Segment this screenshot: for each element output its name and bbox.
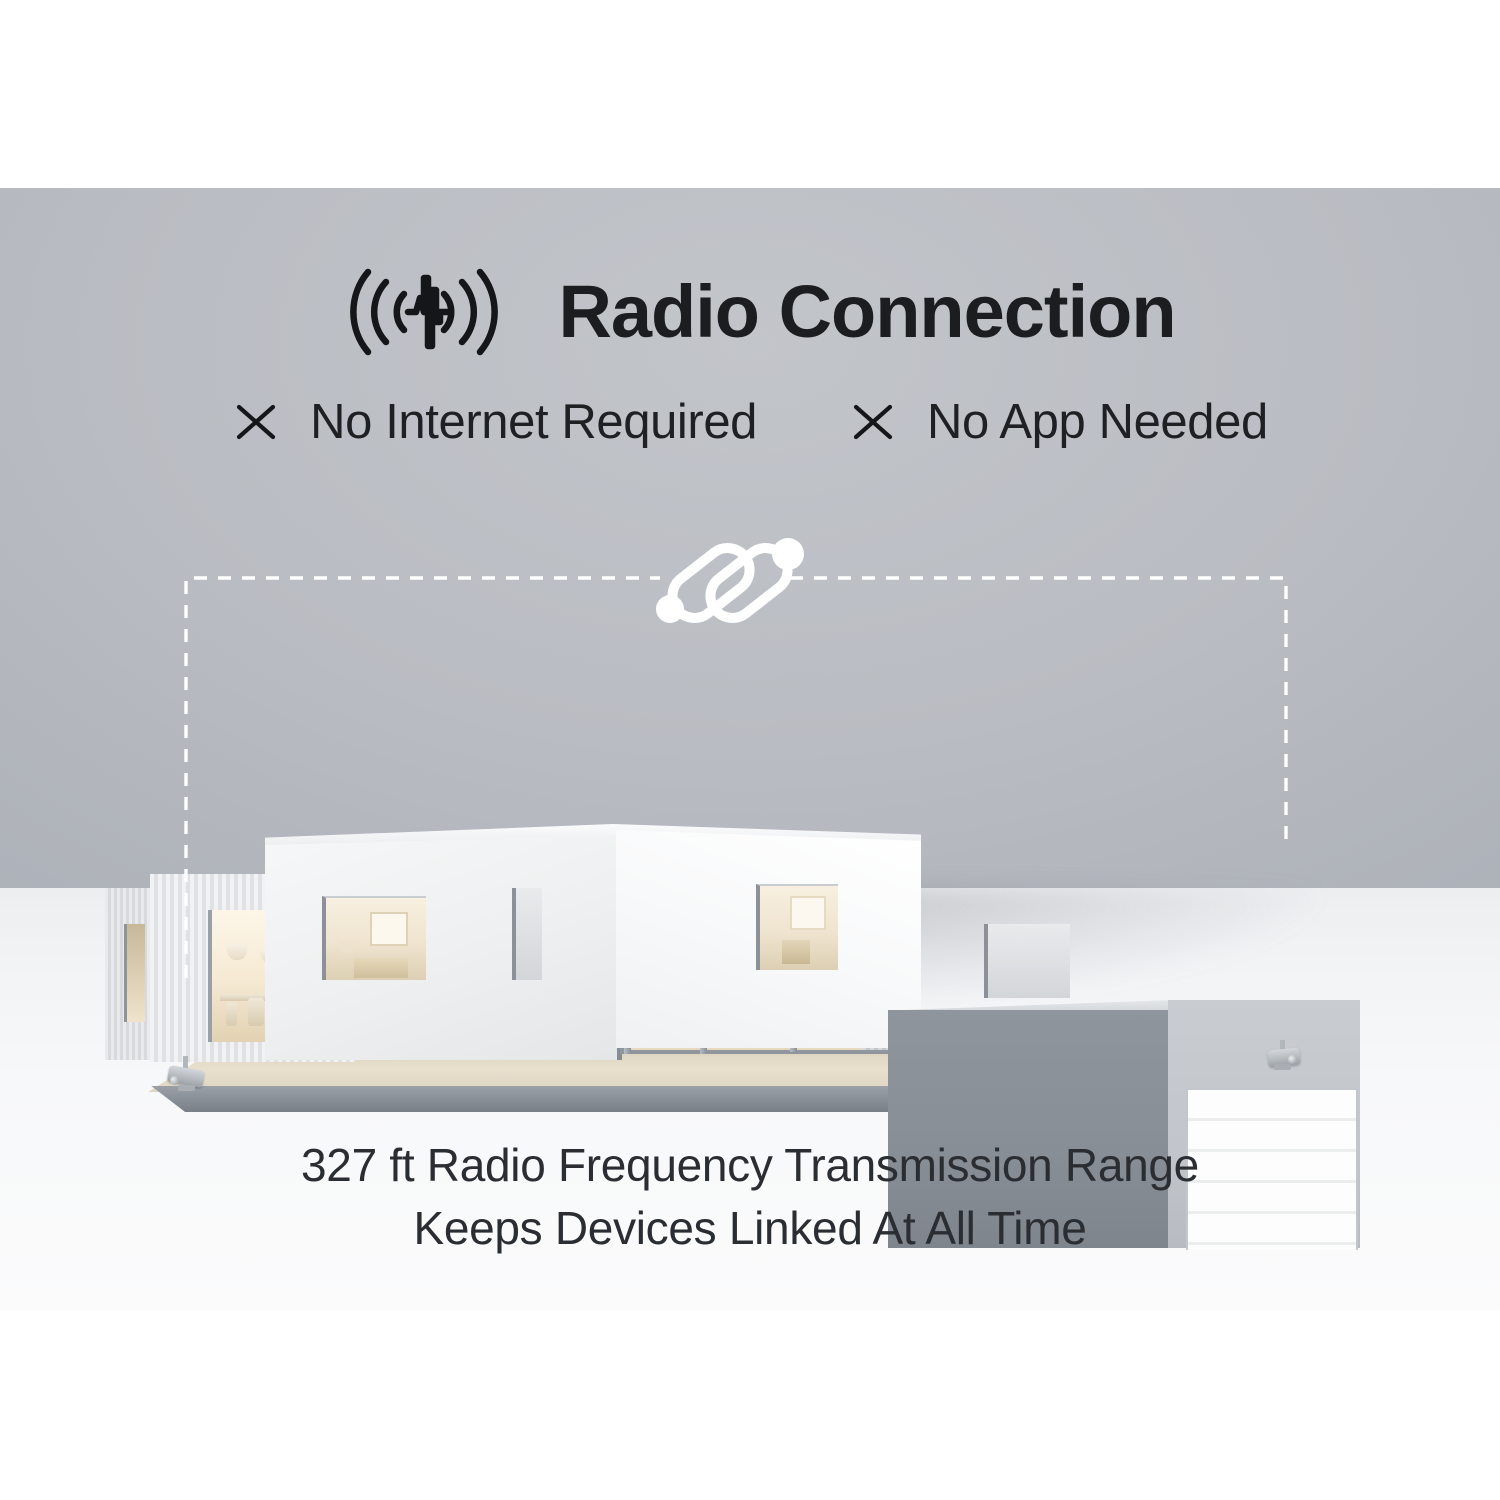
dining-chair (248, 998, 264, 1026)
upper-window-slot (512, 888, 542, 980)
wall-art (790, 896, 826, 930)
wall-art (370, 912, 408, 946)
desk-chair (782, 940, 810, 964)
marketing-image: Radio Connection No Internet Required (0, 0, 1500, 1500)
upper-wall-left (265, 836, 617, 1060)
image-canvas: Radio Connection No Internet Required (0, 188, 1500, 1310)
caption-block: 327 ft Radio Frequency Transmission Rang… (0, 1134, 1500, 1261)
pendant-lamp (226, 944, 248, 960)
upper-window-bedroom (322, 896, 426, 980)
upper-window-study (756, 884, 838, 970)
caption-line-1: 327 ft Radio Frequency Transmission Rang… (0, 1134, 1500, 1197)
upper-window-right (984, 924, 1070, 998)
dining-chair (226, 1002, 237, 1026)
caption-line-2: Keeps Devices Linked At All Time (0, 1197, 1500, 1260)
pendant-lamp (340, 942, 354, 953)
left-wing-narrow-window (124, 924, 145, 1022)
sideboard (354, 958, 408, 978)
